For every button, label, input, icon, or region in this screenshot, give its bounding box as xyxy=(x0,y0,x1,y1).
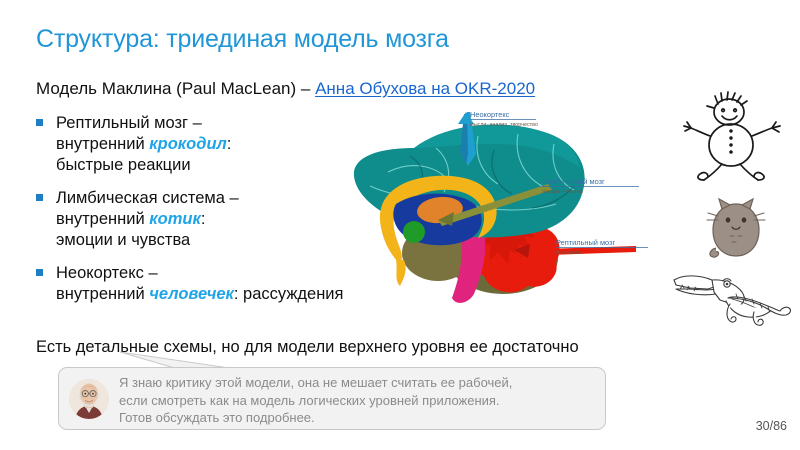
quote-line-1: Я знаю критику этой модели, она не мешае… xyxy=(119,374,597,392)
bullet-square-icon xyxy=(36,119,43,126)
label-neocortex-title: Неокортекс xyxy=(470,110,510,119)
label-limbic-subtitle: эмоции, чувства xyxy=(542,189,583,195)
limbic-core-shape xyxy=(393,194,481,246)
cat-doodle xyxy=(700,196,772,266)
bullet-highlight-chelovechek: человечек xyxy=(149,285,234,303)
quote-line-3: Готов обсуждать это подробнее. xyxy=(119,409,597,427)
stick-person-doodle xyxy=(680,88,786,186)
bullet-square-icon xyxy=(36,194,43,201)
bullet-highlight-kotik: котик xyxy=(149,210,201,228)
bullet-highlight-krokodil: крокодил xyxy=(149,135,227,153)
triune-brain-diagram: Неокортекс мысли, анализ, творчество Лим… xyxy=(318,108,668,313)
bullet-line-2-pre: внутренний xyxy=(56,135,149,153)
avatar xyxy=(69,379,109,419)
label-reptilian-title: Рептильный мозг xyxy=(556,238,615,247)
label-reptilian-subtitle: инстинкты xyxy=(556,250,582,256)
page-number: 30/86 xyxy=(756,419,787,433)
closing-line: Есть детальные схемы, но для модели верх… xyxy=(36,337,579,358)
page-title: Структура: триединая модель мозга xyxy=(36,24,449,54)
bullet-line-2-post: : xyxy=(201,210,206,228)
quote-bubble: Я знаю критику этой модели, она не мешае… xyxy=(58,367,606,430)
quote-text: Я знаю критику этой модели, она не мешае… xyxy=(119,374,597,427)
bullet-line-2-post: : xyxy=(227,135,232,153)
bullet-square-icon xyxy=(36,269,43,276)
bullet-line-2-pre: внутренний xyxy=(56,285,149,303)
slide-root: Структура: триединая модель мозга Модель… xyxy=(0,0,800,450)
crocodile-doodle xyxy=(668,268,796,330)
subtitle-prefix: Модель Маклина (Paul MacLean) – xyxy=(36,79,315,98)
quote-line-2: если смотреть как на модель логических у… xyxy=(119,392,597,410)
bullet-line-2-pre: внутренний xyxy=(56,210,149,228)
okr-2020-link[interactable]: Анна Обухова на OKR-2020 xyxy=(315,79,535,98)
subtitle: Модель Маклина (Paul MacLean) – Анна Обу… xyxy=(36,78,535,100)
label-neocortex-subtitle: мысли, анализ, творчество xyxy=(470,122,538,128)
amygdala-shape xyxy=(403,221,425,243)
label-limbic-title: Лимбический мозг xyxy=(542,177,605,186)
